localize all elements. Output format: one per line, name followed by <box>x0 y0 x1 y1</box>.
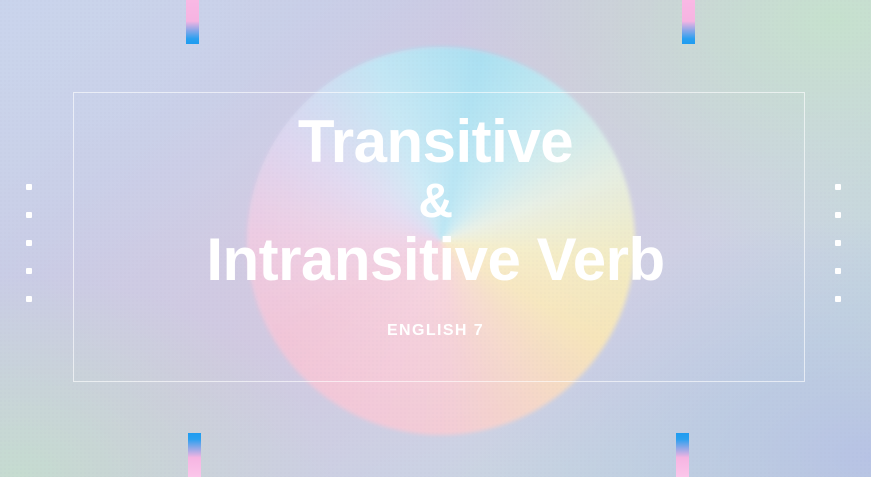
page-title-ampersand: & <box>418 178 452 226</box>
slide-content: Transitive & Intransitive Verb ENGLISH 7 <box>0 0 871 477</box>
page-subtitle: ENGLISH 7 <box>387 322 484 340</box>
page-title-line-2: Intransitive Verb <box>206 230 664 290</box>
presentation-slide: Transitive & Intransitive Verb ENGLISH 7 <box>0 0 871 477</box>
page-title-line-1: Transitive <box>298 112 573 172</box>
